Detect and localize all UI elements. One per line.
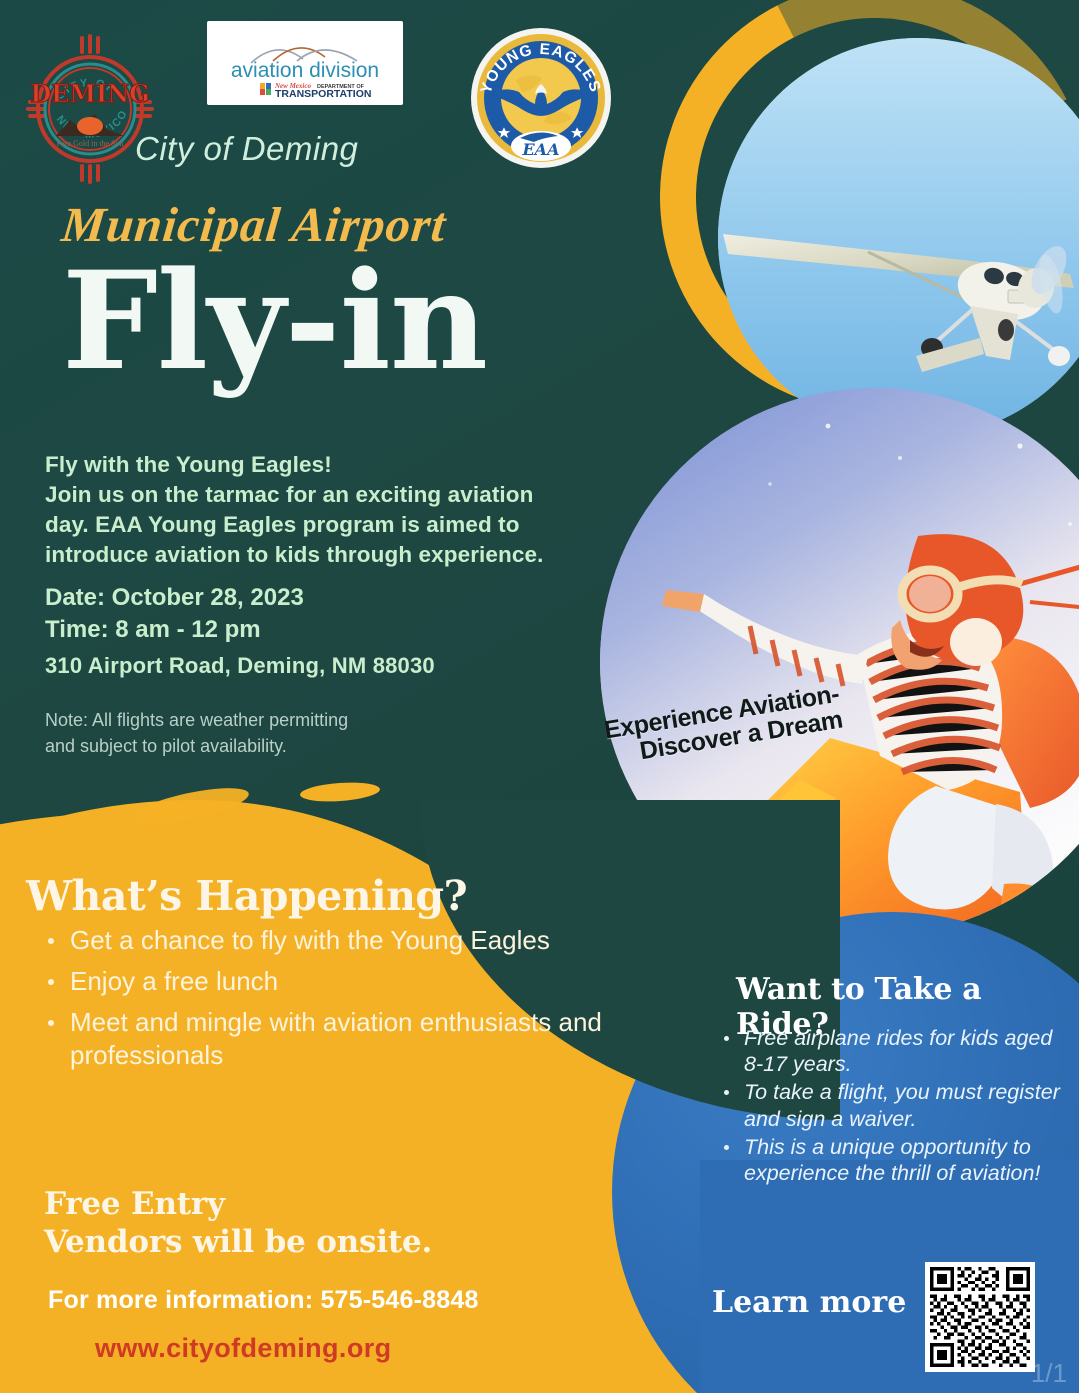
city-of-deming-label: City of Deming bbox=[135, 130, 358, 168]
list-item: This is a unique opportunity to experien… bbox=[716, 1134, 1068, 1186]
flyer-poster: Experience Aviation- Discover a Dream CI… bbox=[0, 0, 1079, 1393]
learn-more-label: Learn more bbox=[712, 1285, 906, 1320]
lead-line-3: day. EAA Young Eagles program is aimed t… bbox=[45, 510, 645, 540]
free-entry-label: Free Entry bbox=[44, 1185, 432, 1223]
list-item: Meet and mingle with aviation enthusiast… bbox=[42, 1006, 642, 1070]
qr-code[interactable] bbox=[925, 1262, 1035, 1372]
event-address: 310 Airport Road, Deming, NM 88030 bbox=[45, 653, 435, 679]
weather-note: Note: All flights are weather permitting… bbox=[45, 708, 475, 759]
lead-line-2: Join us on the tarmac for an exciting av… bbox=[45, 480, 645, 510]
list-item: Free airplane rides for kids aged 8-17 y… bbox=[716, 1025, 1068, 1077]
list-item: Get a chance to fly with the Young Eagle… bbox=[42, 924, 642, 956]
list-item: To take a flight, you must register and … bbox=[716, 1079, 1068, 1131]
svg-text:aviation division: aviation division bbox=[231, 59, 379, 82]
lead-line-4: introduce aviation to kids through exper… bbox=[45, 540, 645, 570]
list-item: Enjoy a free lunch bbox=[42, 965, 642, 997]
note-line-1: Note: All flights are weather permitting bbox=[45, 708, 475, 734]
whats-happening-list: Get a chance to fly with the Young Eagle… bbox=[42, 924, 642, 1080]
eaa-young-eagles-badge-icon: YOUNG EAGLES EAA bbox=[468, 22, 614, 174]
nmdot-aviation-division-logo: aviation division New Mexico DEPARTMENT … bbox=[207, 21, 403, 105]
lead-paragraph: Fly with the Young Eagles! Join us on th… bbox=[45, 450, 645, 570]
page-mark: 1/1 bbox=[1031, 1358, 1067, 1389]
ride-panel-list: Free airplane rides for kids aged 8-17 y… bbox=[716, 1025, 1068, 1188]
page-title: Fly-in bbox=[62, 253, 487, 388]
vendors-label: Vendors will be onsite. bbox=[44, 1223, 432, 1261]
aviation-division-wordmark-icon: aviation division New Mexico DEPARTMENT … bbox=[207, 21, 403, 105]
logo-row: CITY OF NEW MEXICO DEMING Pure Gold in t… bbox=[0, 0, 1079, 190]
svg-text:TRANSPORTATION: TRANSPORTATION bbox=[275, 88, 371, 100]
contact-phone[interactable]: For more information: 575-546-8848 bbox=[48, 1286, 479, 1315]
note-line-2: and subject to pilot availability. bbox=[45, 734, 475, 760]
svg-text:Pure Gold in the Sun: Pure Gold in the Sun bbox=[56, 139, 123, 148]
lead-line-1: Fly with the Young Eagles! bbox=[45, 450, 645, 480]
event-date: Date: October 28, 2023 bbox=[45, 582, 304, 614]
whats-happening-title: What’s Happening? bbox=[26, 872, 467, 920]
qr-code-icon[interactable] bbox=[930, 1267, 1030, 1367]
free-entry-block: Free Entry Vendors will be onsite. bbox=[44, 1185, 432, 1262]
svg-text:DEMING: DEMING bbox=[30, 79, 149, 108]
website-link[interactable]: www.cityofdeming.org bbox=[95, 1333, 392, 1364]
event-datetime: Date: October 28, 2023 Time: 8 am - 12 p… bbox=[45, 582, 304, 646]
svg-text:EAA: EAA bbox=[521, 140, 559, 159]
event-time: Time: 8 am - 12 pm bbox=[45, 614, 304, 646]
